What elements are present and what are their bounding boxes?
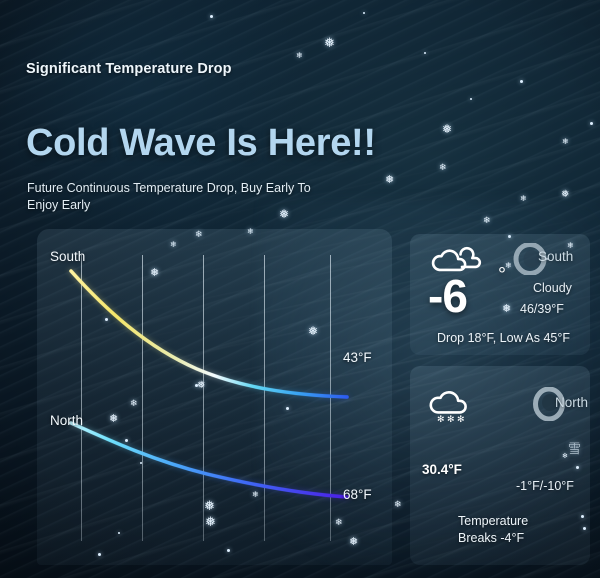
chart-series-label-north: North [50, 413, 83, 428]
subtitle-text: Future Continuous Temperature Drop, Buy … [27, 180, 337, 213]
snow-dot [98, 553, 101, 556]
snow-dot [470, 98, 472, 100]
chart-series-label-south: South [50, 249, 85, 264]
snowflake-icon: ❄ [252, 491, 259, 499]
snow-dot [210, 15, 213, 18]
snow-dot [520, 80, 523, 83]
snowflake-icon: ❅ [442, 123, 452, 135]
snowflake-icon: ❅ [150, 268, 159, 279]
snowflake-icon: ❄ [439, 163, 447, 172]
snowflake-icon: ❄ [520, 195, 527, 203]
chart-end-value-south: 43°F [343, 350, 372, 365]
card-region-label: North [555, 395, 588, 410]
cloud-snow-icon: ✻ ✻ ✻ [428, 384, 480, 431]
card-region-label: South [538, 249, 573, 264]
snow-dot [363, 12, 365, 14]
snow-dot [195, 384, 198, 387]
snowflake-icon: ❅ [561, 190, 569, 200]
snow-dot [125, 439, 128, 442]
snow-character-glyph: 雪 [568, 438, 581, 457]
weather-card-north[interactable]: ✻ ✻ ✻ North 雪 30.4°F -1°F/-10°F Temperat… [410, 366, 590, 565]
svg-text:✻: ✻ [447, 415, 455, 425]
svg-text:✻: ✻ [457, 415, 465, 425]
snow-dot [286, 407, 289, 410]
snowflake-icon: ❄ [130, 399, 138, 408]
poster-canvas: ❅ ❄ ❅ ❄ ❄ ❅ ❄ ❄ ❅ ❅ ❄ ❄ ❄ Significant Te… [0, 0, 600, 578]
svg-text:✻: ✻ [437, 415, 445, 425]
snowflake-icon: ❄ [562, 138, 569, 146]
card-temperature: 30.4°F [422, 462, 462, 477]
chart-end-value-north: 68°F [343, 487, 372, 502]
card-condition: Cloudy [533, 281, 572, 295]
kicker-text: Significant Temperature Drop [26, 61, 232, 77]
snow-dot [424, 52, 426, 54]
snowflake-icon: ❄ [567, 242, 574, 250]
snow-dot [105, 318, 108, 321]
snowflake-icon: ❅ [324, 36, 335, 49]
snow-dot [581, 515, 584, 518]
snow-dot [576, 466, 579, 469]
snow-dot [118, 532, 120, 534]
snowflake-icon: ❄ [296, 52, 303, 60]
snowflake-icon: ❅ [109, 414, 118, 425]
snow-dot [140, 462, 142, 464]
snowflake-icon: ❅ [308, 325, 318, 337]
snowflake-icon: ❅ [197, 381, 205, 391]
card-temperature: -6 [428, 273, 467, 319]
snowflake-icon: ❄ [335, 518, 343, 527]
snowflake-icon: ❅ [205, 515, 216, 528]
weather-card-south[interactable]: -6 ° South Cloudy 46/39°F Drop 18°F, Low… [410, 234, 590, 355]
snow-dot [227, 549, 230, 552]
snow-dot [590, 122, 593, 125]
card-footer-note: Drop 18°F, Low As 45°F [437, 330, 570, 347]
snowflake-icon: ❄ [394, 500, 402, 509]
snowflake-icon: ❅ [349, 537, 358, 548]
snowflake-icon: ❄ [483, 216, 491, 225]
snowflake-icon: ❅ [385, 175, 394, 186]
card-range: -1°F/-10°F [516, 479, 574, 493]
page-title: Cold Wave Is Here!! [26, 124, 376, 162]
snowflake-icon: ❅ [204, 499, 215, 512]
card-range: 46/39°F [520, 302, 564, 316]
snowflake-icon: ❅ [502, 304, 511, 315]
snowflake-icon: ❄ [562, 453, 568, 460]
card-footer-note: Temperature Breaks -4°F [458, 513, 563, 547]
snow-dot [583, 527, 586, 530]
snowflake-icon: ❄ [505, 262, 512, 270]
